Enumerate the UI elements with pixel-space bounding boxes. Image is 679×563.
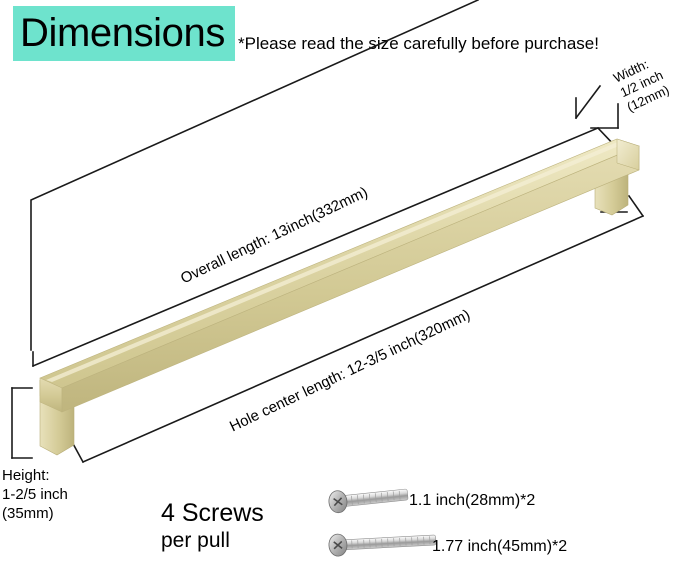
handle-diagram — [0, 0, 679, 563]
height-line-1: Height: — [2, 466, 68, 485]
screw-label-short: 1.1 inch(28mm)*2 — [409, 491, 535, 511]
screws-caption-line-2: per pull — [161, 528, 264, 554]
screw-long — [328, 529, 436, 557]
dimensions-infographic: Dimensions *Please read the size careful… — [0, 0, 679, 563]
screw-label-long: 1.77 inch(45mm)*2 — [432, 537, 567, 557]
screw-short — [328, 483, 409, 513]
handle-body — [40, 139, 639, 455]
screws-caption: 4 Screws per pull — [161, 498, 264, 554]
height-line-2: 1-2/5 inch — [2, 485, 68, 504]
screws-caption-line-1: 4 Screws — [161, 498, 264, 528]
dimension-label-height: Height: 1-2/5 inch (35mm) — [2, 466, 68, 523]
height-line-3: (35mm) — [2, 504, 68, 523]
